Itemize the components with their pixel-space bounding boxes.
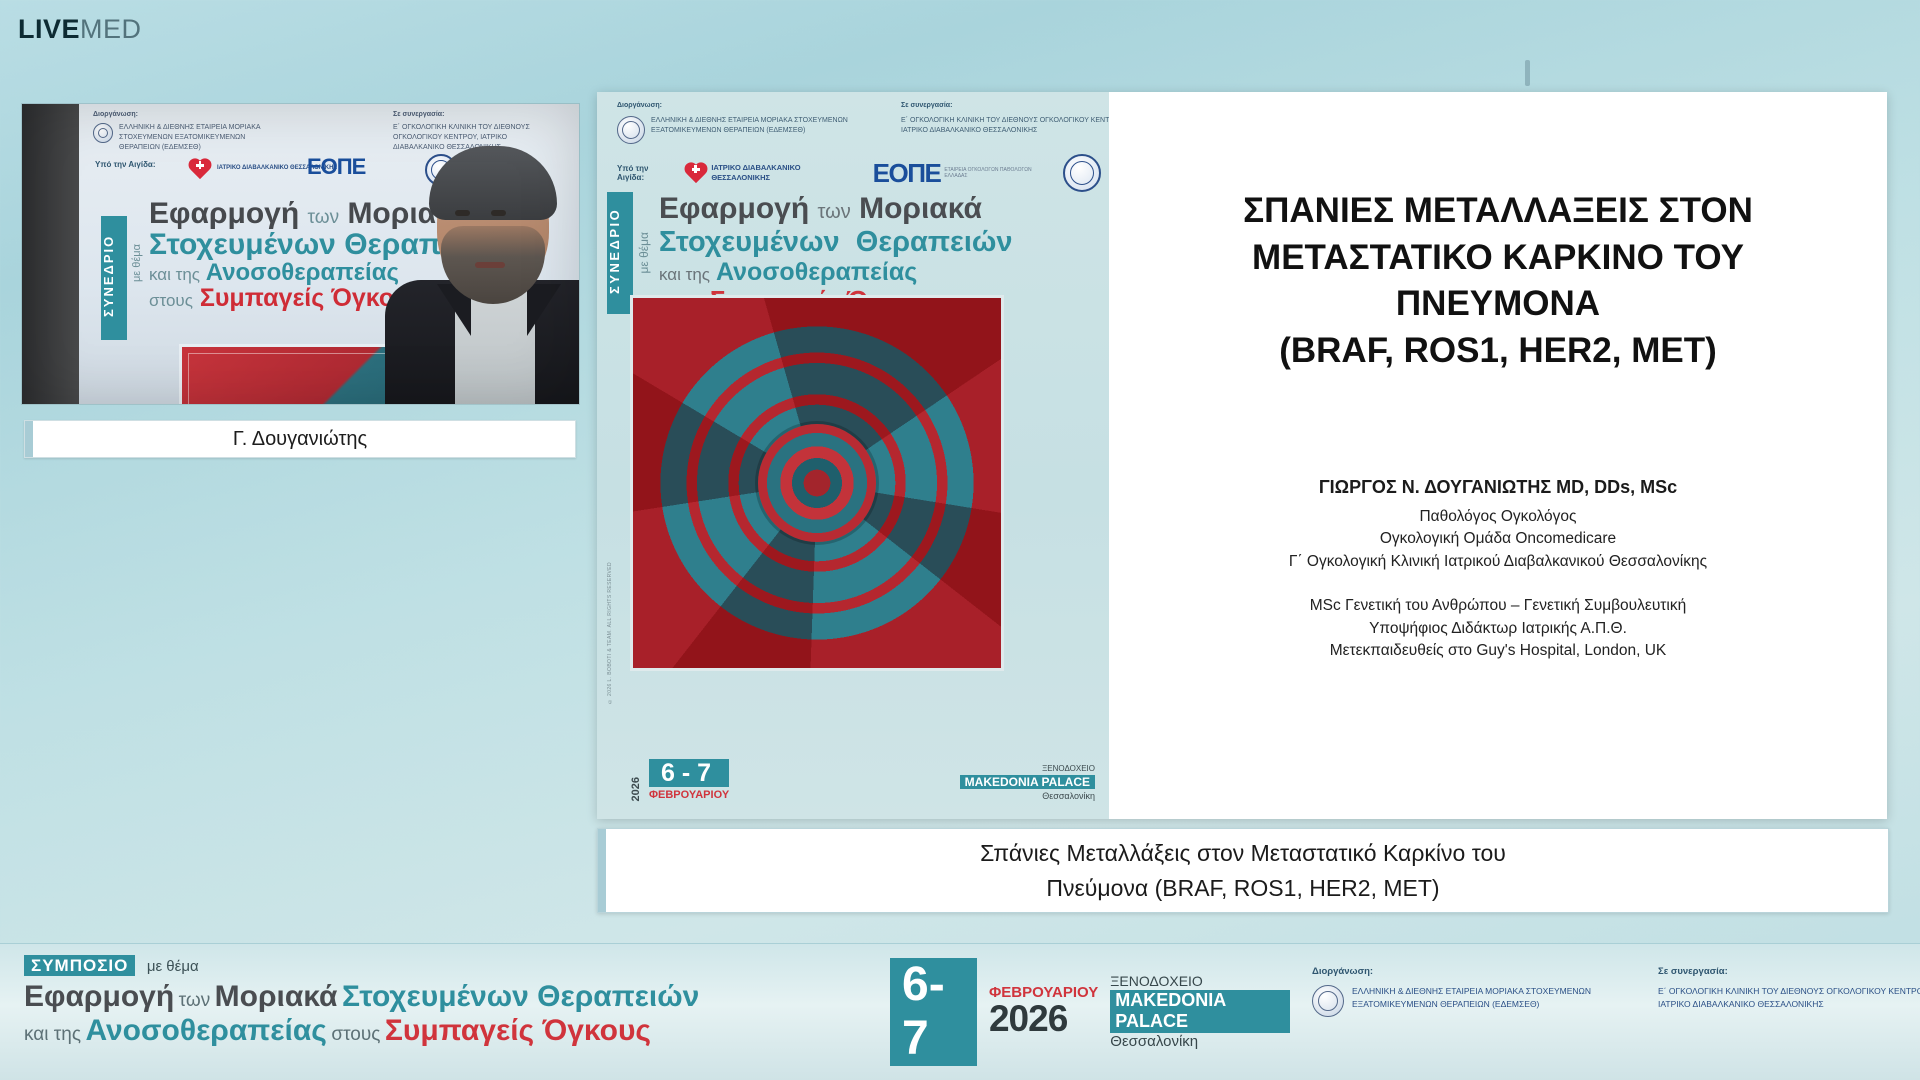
backdrop-l1b: των	[308, 207, 340, 228]
speaker-collar-right	[527, 284, 561, 336]
conference-backdrop: Διοργάνωση: ΕΛΛΗΝΙΚΗ & ΔΙΕΘΝΗΣ ΕΤΑΙΡΕΙΑ …	[79, 104, 579, 404]
poster-venue-label: ΞΕΝΟΔΟΧΕΙΟ	[960, 764, 1095, 773]
artwork-core	[758, 424, 876, 542]
banner-l1d: Στοχευμένων Θεραπειών	[342, 980, 699, 1013]
caption-accent-bar	[598, 829, 606, 912]
banner-venue-city: Θεσσαλονίκη	[1110, 1033, 1290, 1051]
backdrop-organizer-text: ΕΛΛΗΝΙΚΗ & ΔΙΕΘΝΗΣ ΕΤΑΙΡΕΙΑ ΜΟΡΙΑΚΑ ΣΤΟΧ…	[119, 123, 273, 153]
banner-me-thema: με θέμα	[147, 958, 199, 975]
banner-venue-block: ΞΕΝΟΔΟΧΕΙΟ MAKEDONIA PALACE Θεσσαλονίκη	[1110, 973, 1290, 1051]
author-affiliation-1: Παθολόγος Ογκολόγος	[1149, 506, 1847, 528]
banner-collab-label: Σε συνεργασία:	[1658, 966, 1920, 977]
speaker-eye-left	[455, 210, 470, 216]
banner-l2a: και της	[24, 1024, 81, 1045]
poster-year: 2026	[630, 777, 642, 801]
poster-date-block: 2026 6 - 7 ΦΕΒΡΟΥΑΡΙΟΥ	[630, 759, 729, 801]
backdrop-l4a: στους	[149, 291, 193, 310]
poster-aegis-label: Υπό την Αιγίδα:	[617, 164, 673, 182]
bottom-banner: ΣΥΜΠΟΣΙΟ με θέμα Εφαρμογή των Μοριακά Στ…	[0, 943, 1920, 1080]
banner-collab-text: Ε΄ ΟΓΚΟΛΟΓΙΚΗ ΚΛΙΝΙΚΗ ΤΟΥ ΔΙΕΘΝΟΥΣ ΟΓΚΟΛ…	[1658, 985, 1920, 1011]
poster-aegis-row: Υπό την Αιγίδα: ΙΑΤΡΙΚΟ ΔΙΑΒΑΛΚΑΝΙΚΟ ΘΕΣ…	[617, 154, 1101, 192]
slide-progress-tick	[1525, 60, 1530, 86]
speaker-hair	[429, 146, 557, 220]
poster-l1b: των	[818, 201, 851, 223]
caption-line-1: Σπάνιες Μεταλλάξεις στον Μεταστατικό Καρ…	[980, 836, 1506, 871]
speaker-name: Γ. Δουγανιώτης	[233, 428, 367, 451]
eope-logo: ΕΟΠΕ	[307, 154, 365, 184]
idth-logo: ΙΑΤΡΙΚΟ ΔΙΑΒΑΛΚΑΝΙΚΟ ΘΕΣΣΑΛΟΝΙΚΗΣ	[683, 161, 849, 185]
banner-organizer-text: ΕΛΛΗΝΙΚΗ & ΔΙΕΘΝΗΣ ΕΤΑΙΡΕΙΑ ΜΟΡΙΑΚΑ ΣΤΟΧ…	[1352, 985, 1612, 1011]
banner-organizer-label: Διοργάνωση:	[1312, 966, 1612, 977]
banner-symposio-chip: ΣΥΜΠΟΣΙΟ	[24, 955, 135, 976]
author-affiliation-3: Γ΄ Ογκολογική Κλινική Ιατρικού Διαβαλκαν…	[1149, 551, 1847, 573]
banner-venue-label: ΞΕΝΟΔΟΧΕΙΟ	[1110, 973, 1290, 990]
slide-author-block: ΓΙΩΡΓΟΣ Ν. ΔΟΥΓΑΝΙΩΤΗΣ MD, DDs, MSc Παθο…	[1149, 477, 1847, 663]
eope-label: ΕΟΠΕ	[873, 158, 941, 189]
idth-label: ΙΑΤΡΙΚΟ ΔΙΑΒΑΛΚΑΝΙΚΟ ΘΕΣΣΑΛΟΝΙΚΗΣ	[711, 163, 848, 183]
banner-l2b: Ανοσοθεραπείας	[85, 1014, 326, 1047]
poster-organizer-label: Διοργάνωση:	[617, 101, 867, 112]
speaker-person	[379, 154, 579, 404]
video-side-wall	[22, 104, 82, 404]
poster-artwork	[630, 295, 1004, 671]
slide-title-line-2: ΜΕΤΑΣΤΑΤΙΚΟ ΚΑΡΚΙΝΟ ΤΟΥ	[1149, 235, 1847, 282]
banner-days: 6-7	[890, 958, 977, 1066]
poster-organizer-text: ΕΛΛΗΝΙΚΗ & ΔΙΕΘΝΗΣ ΕΤΑΙΡΕΙΑ ΜΟΡΙΑΚΑ ΣΤΟΧ…	[651, 116, 867, 137]
banner-l1a: Εφαρμογή	[24, 980, 174, 1013]
poster-l1a: Εφαρμογή	[659, 192, 809, 225]
poster-venue-name: MAKEDONIA PALACE	[960, 775, 1095, 789]
backdrop-organizer-label: Διοργάνωση:	[93, 110, 273, 120]
poster-me-thema: με θέμα	[637, 232, 651, 273]
banner-title-block: ΣΥΜΠΟΣΙΟ με θέμα Εφαρμογή των Μοριακά Στ…	[0, 944, 864, 1080]
brand-med: MED	[80, 14, 142, 44]
slide-title: ΣΠΑΝΙΕΣ ΜΕΤΑΛΛΑΞΕΙΣ ΣΤΟΝ ΜΕΤΑΣΤΑΤΙΚΟ ΚΑΡ…	[1149, 188, 1847, 374]
livemed-logo: LIVEMED	[18, 14, 142, 45]
edemseth-seal-icon	[93, 123, 113, 143]
banner-l1b: των	[179, 990, 211, 1011]
backdrop-collab-label: Σε συνεργασία:	[393, 110, 558, 120]
banner-date-block: 6-7 ΦΕΒΡΟΥΑΡΙΟΥ 2026 ΞΕΝΟΔΟΧΕΙΟ MAKEDONI…	[864, 944, 1290, 1080]
backdrop-l3b: Ανοσοθεραπείας	[206, 259, 399, 286]
poster-venue-city: Θεσσαλονίκη	[960, 791, 1095, 801]
author-affiliation-2: Ογκολογική Ομάδα Oncomedicare	[1149, 528, 1847, 550]
brand-live: LIVE	[18, 14, 80, 44]
banner-l2c: στους	[331, 1024, 380, 1045]
eope-label: ΕΟΠΕ	[307, 154, 365, 179]
speaker-mouth	[475, 262, 505, 268]
slide-title-line-1: ΣΠΑΝΙΕΣ ΜΕΤΑΛΛΑΞΕΙΣ ΣΤΟΝ	[1149, 188, 1847, 235]
eope-logo: ΕΟΠΕ ΕΤΑΙΡΕΙΑ ΟΓΚΟΛΟΓΩΝ ΠΑΘΟΛΟΓΩΝ ΕΛΛΑΔΑ…	[873, 158, 1041, 189]
heart-cross-icon	[683, 161, 707, 185]
poster-collab-text: Ε΄ ΟΓΚΟΛΟΓΙΚΗ ΚΛΙΝΙΚΗ ΤΟΥ ΔΙΕΘΝΟΥΣ ΟΓΚΟΛ…	[901, 116, 1109, 137]
slide-title-line-4: (BRAF, ROS1, HER2, MET)	[1149, 328, 1847, 375]
slide-content: ΣΠΑΝΙΕΣ ΜΕΤΑΛΛΑΞΕΙΣ ΣΤΟΝ ΜΕΤΑΣΤΑΤΙΚΟ ΚΑΡ…	[1109, 92, 1887, 819]
poster-l2a: Στοχευμένων	[659, 226, 840, 258]
nameplate-accent-bar	[25, 421, 33, 457]
poster-collab-label: Σε συνεργασία:	[901, 101, 1109, 112]
edemseth-seal-icon	[617, 116, 645, 144]
slide-poster-panel: Διοργάνωση: ΕΛΛΗΝΙΚΗ & ΔΙΕΘΝΗΣ ΕΤΑΙΡΕΙΑ …	[597, 92, 1109, 819]
banner-l2d: Συμπαγείς Όγκους	[385, 1014, 651, 1047]
poster-copyright: © 2026 L. BOBOTI & TEAM. ALL RIGHTS RESE…	[607, 562, 613, 704]
banner-year: 2026	[989, 1000, 1098, 1039]
presentation-slide[interactable]: Διοργάνωση: ΕΛΛΗΝΙΚΗ & ΔΙΕΘΝΗΣ ΕΤΑΙΡΕΙΑ …	[597, 92, 1887, 819]
eope-sublabel: ΕΤΑΙΡΕΙΑ ΟΓΚΟΛΟΓΩΝ ΠΑΘΟΛΟΓΩΝ ΕΛΛΑΔΑΣ	[944, 167, 1041, 180]
partner-seal-logo	[1063, 154, 1101, 192]
backdrop-aegis-label: Υπό την Αιγίδα:	[95, 160, 156, 190]
poster-l3b: Ανοσοθεραπείας	[716, 258, 917, 286]
presentation-caption: Σπάνιες Μεταλλάξεις στον Μεταστατικό Καρ…	[597, 828, 1889, 913]
author-education-3: Μετεκπαιδευθείς στο Guy's Hospital, Lond…	[1149, 640, 1847, 662]
heart-cross-icon	[187, 157, 213, 181]
speaker-video[interactable]: Διοργάνωση: ΕΛΛΗΝΙΚΗ & ΔΙΕΘΝΗΣ ΕΤΑΙΡΕΙΑ …	[22, 104, 579, 404]
author-block-spacer	[1149, 573, 1847, 595]
poster-month: ΦΕΒΡΟΥΑΡΙΟΥ	[649, 789, 729, 801]
backdrop-l3a: και της	[149, 265, 200, 284]
backdrop-l1a: Εφαρμογή	[149, 197, 299, 230]
partner-seal-icon	[1063, 154, 1101, 192]
edemseth-seal-icon	[1312, 985, 1344, 1017]
banner-organizers: Διοργάνωση: ΕΛΛΗΝΙΚΗ & ΔΙΕΘΝΗΣ ΕΤΑΙΡΕΙΑ …	[1290, 944, 1920, 1080]
speaker-nameplate: Γ. Δουγανιώτης	[24, 420, 576, 458]
author-education-2: Υποψήφιος Διδάκτωρ Ιατρικής Α.Π.Θ.	[1149, 618, 1847, 640]
speaker-eye-right	[491, 210, 506, 216]
poster-days: 6 - 7	[649, 759, 729, 787]
poster-l1c: Μοριακά	[859, 192, 982, 225]
poster-l2b: Θεραπειών	[856, 226, 1013, 258]
banner-l1c: Μοριακά	[215, 980, 338, 1013]
poster-l3a: και της	[659, 265, 710, 284]
backdrop-synedrio-chip: ΣΥΝΕΔΡΙΟ	[101, 216, 127, 340]
banner-venue-name: MAKEDONIA PALACE	[1110, 990, 1290, 1033]
slide-title-line-3: ΠΝΕΥΜΟΝΑ	[1149, 281, 1847, 328]
poster-venue-block: ΞΕΝΟΔΟΧΕΙΟ MAKEDONIA PALACE Θεσσαλονίκη	[960, 764, 1095, 801]
author-name: ΓΙΩΡΓΟΣ Ν. ΔΟΥΓΑΝΙΩΤΗΣ MD, DDs, MSc	[1149, 477, 1847, 498]
author-education-1: MSc Γενετική του Ανθρώπου – Γενετική Συμ…	[1149, 595, 1847, 617]
caption-line-2: Πνεύμονα (BRAF, ROS1, HER2, MET)	[980, 871, 1506, 906]
backdrop-me-thema: με θέμα	[131, 244, 143, 282]
